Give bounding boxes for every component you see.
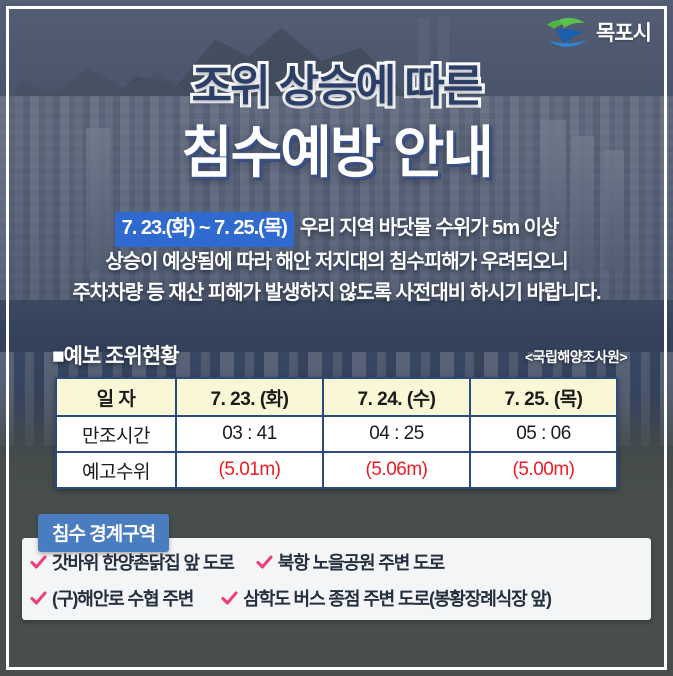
notice-body-line-2: 상승이 예상됨에 따라 해안 저지대의 침수피해가 우려되오니	[0, 247, 673, 278]
table-cell-water-level: (5.00m)	[470, 452, 617, 488]
notice-body-line-1: 7. 23.(화) ~ 7. 25.(목)우리 지역 바닷물 수위가 5m 이상	[0, 212, 673, 247]
list-item: 삼학도 버스 종점 주변 도로(봉황장례식장 앞)	[221, 585, 551, 611]
tide-section-heading: ■예보 조위현황	[52, 340, 178, 370]
tide-data-source: <국립해양조사원>	[525, 347, 627, 367]
tide-forecast-table: 일 자 7. 23. (화) 7. 24. (수) 7. 25. (목) 만조시…	[55, 377, 618, 489]
list-item-label: 갓바위 한양촌닭집 앞 도로	[52, 549, 234, 575]
poster-root: 목포시 조위 상승에 따른 침수예방 안내 7. 23.(화) ~ 7. 25.…	[0, 0, 673, 676]
table-header-cell: 7. 25. (목)	[470, 378, 617, 416]
warning-zone-list: 갓바위 한양촌닭집 앞 도로 북항 노을공원 주변 도로	[22, 544, 651, 620]
list-item-label: 북항 노을공원 주변 도로	[278, 549, 444, 575]
table-cell-water-level: (5.06m)	[323, 452, 470, 488]
seagull-wave-icon	[545, 16, 591, 50]
list-item: (구)해안로 수협 주변	[30, 585, 193, 611]
notice-body-line-1-text: 우리 지역 바닷물 수위가 5m 이상	[300, 217, 559, 239]
list-item: 갓바위 한양촌닭집 앞 도로	[30, 549, 234, 575]
table-row: 예고수위 (5.01m) (5.06m) (5.00m)	[56, 452, 617, 488]
check-icon	[30, 590, 47, 607]
table-header-cell: 7. 24. (수)	[323, 378, 470, 416]
notice-body-line-3: 주차차량 등 재산 피해가 발생하지 않도록 사전대비 하시기 바랍니다.	[0, 278, 673, 309]
poster-content: 목포시 조위 상승에 따른 침수예방 안내 7. 23.(화) ~ 7. 25.…	[0, 0, 673, 676]
tide-table-wrapper: 일 자 7. 23. (화) 7. 24. (수) 7. 25. (목) 만조시…	[55, 377, 618, 489]
table-cell-high-tide: 03 : 41	[176, 416, 323, 452]
table-cell-high-tide: 05 : 06	[470, 416, 617, 452]
table-row-label: 만조시간	[56, 416, 176, 452]
check-icon	[221, 590, 238, 607]
table-row: 만조시간 03 : 41 04 : 25 05 : 06	[56, 416, 617, 452]
warning-zone-row: (구)해안로 수협 주변 삼학도 버스 종점 주변 도로(봉황장례식장 앞)	[22, 580, 651, 616]
table-cell-high-tide: 04 : 25	[323, 416, 470, 452]
mokpo-city-logo: 목포시	[545, 16, 651, 50]
table-header-row: 일 자 7. 23. (화) 7. 24. (수) 7. 25. (목)	[56, 378, 617, 416]
check-icon	[256, 554, 273, 571]
table-row-label: 예고수위	[56, 452, 176, 488]
list-item-label: 삼학도 버스 종점 주변 도로(봉황장례식장 앞)	[243, 585, 551, 611]
table-header-cell: 일 자	[56, 378, 176, 416]
table-header-cell: 7. 23. (화)	[176, 378, 323, 416]
list-item: 북항 노을공원 주변 도로	[256, 549, 444, 575]
warning-zone-row: 갓바위 한양촌닭집 앞 도로 북항 노을공원 주변 도로	[22, 544, 651, 580]
check-icon	[30, 554, 47, 571]
logo-label: 목포시	[596, 23, 651, 44]
date-range-badge: 7. 23.(화) ~ 7. 25.(목)	[115, 212, 294, 247]
title-line-2: 침수예방 안내	[0, 108, 673, 189]
notice-body: 7. 23.(화) ~ 7. 25.(목)우리 지역 바닷물 수위가 5m 이상…	[0, 212, 673, 309]
table-cell-water-level: (5.01m)	[176, 452, 323, 488]
list-item-label: (구)해안로 수협 주변	[52, 585, 193, 611]
title-line-1: 조위 상승에 따른	[0, 50, 673, 114]
